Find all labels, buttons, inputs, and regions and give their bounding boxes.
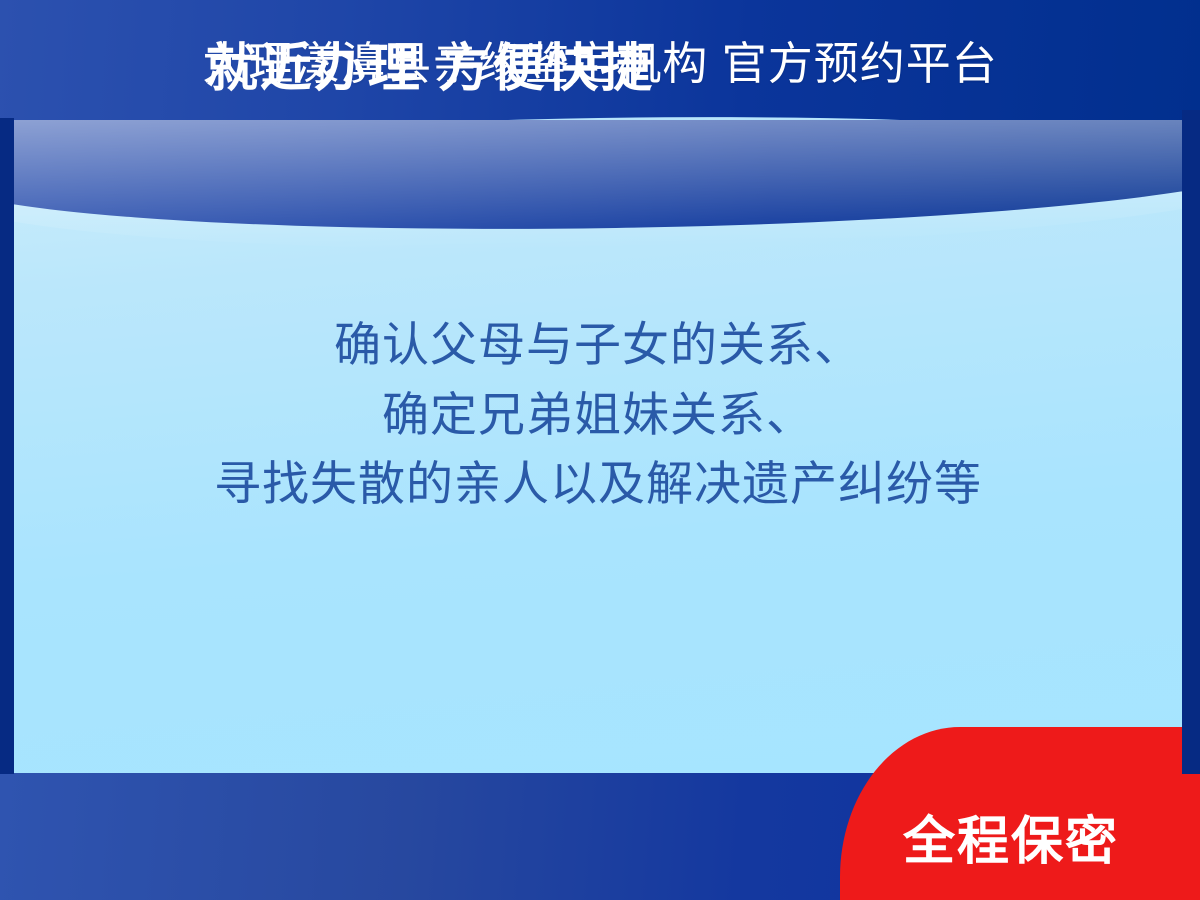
content-panel: 确认父母与子女的关系、 确定兄弟姐妹关系、 寻找失散的亲人以及解决遗产纠纷等: [14, 120, 1182, 774]
service-line-1: 确认父母与子女的关系、: [14, 310, 1182, 380]
service-description: 确认父母与子女的关系、 确定兄弟姐妹关系、 寻找失散的亲人以及解决遗产纠纷等: [14, 310, 1182, 519]
right-edge-strip: [1182, 110, 1200, 774]
service-line-2: 确定兄弟姐妹关系、: [14, 380, 1182, 450]
panel-sheen: [14, 120, 1182, 259]
status-badge: 全程保密: [840, 773, 1182, 900]
promo-banner: 大理漾濞县亲缘鉴定机构 官方预约平台 确认父母与子女的关系、 确定兄弟姐妹关系、…: [0, 0, 1200, 900]
left-edge-strip: [0, 118, 14, 774]
service-line-3: 寻找失散的亲人以及解决遗产纠纷等: [14, 449, 1182, 519]
confidentiality-badge: 全程保密: [840, 727, 1200, 900]
footer-slogan: 就近办理 方便快捷: [0, 0, 860, 127]
